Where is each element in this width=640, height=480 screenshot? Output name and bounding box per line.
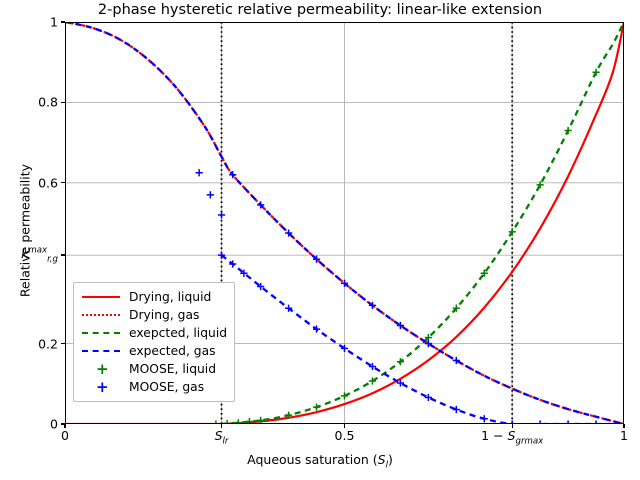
data-marker-layer xyxy=(196,22,624,424)
x-tick-mark xyxy=(221,424,222,428)
chart-title: 2-phase hysteretic relative permeability… xyxy=(0,2,640,18)
legend-label: MOOSE, liquid xyxy=(129,362,216,376)
legend-item[interactable]: expected, gas xyxy=(80,342,228,360)
legend-item[interactable]: exepcted, liquid xyxy=(80,324,228,342)
x-tick-mark xyxy=(512,424,513,428)
y-tick-mark xyxy=(61,254,65,255)
line-sample-icon xyxy=(82,314,120,316)
legend-label: expected, gas xyxy=(129,344,216,358)
legend-item[interactable]: +MOOSE, gas xyxy=(80,378,228,396)
figure: 2-phase hysteretic relative permeability… xyxy=(0,0,640,480)
x-tick-label: 0 xyxy=(61,428,69,443)
legend-swatch xyxy=(80,326,122,340)
x-tick-mark xyxy=(623,424,624,428)
x-tick-label: 1 xyxy=(620,428,628,443)
y-tick-label: 0.8 xyxy=(38,95,58,110)
legend: Drying, liquidDrying, gasexepcted, liqui… xyxy=(73,282,235,402)
legend-swatch: + xyxy=(80,362,122,376)
legend-swatch xyxy=(80,290,122,304)
x-tick-label: Slr xyxy=(215,428,229,447)
y-tick-mark xyxy=(61,343,65,344)
legend-swatch xyxy=(80,308,122,322)
y-tick-label: 1 xyxy=(50,15,58,30)
x-tick-mark xyxy=(344,424,345,428)
y-tick-mark xyxy=(61,182,65,183)
legend-label: exepcted, liquid xyxy=(129,326,227,340)
plus-marker-icon: + xyxy=(96,361,109,377)
legend-label: Drying, liquid xyxy=(129,290,211,304)
legend-label: Drying, gas xyxy=(129,308,199,322)
x-tick-label: 0.5 xyxy=(335,428,355,443)
x-tick-mark xyxy=(64,424,65,428)
y-tick-label: 0 xyxy=(50,417,58,432)
legend-item[interactable]: +MOOSE, liquid xyxy=(80,360,228,378)
x-axis-label: Aqueous saturation (Sl) xyxy=(0,452,640,471)
legend-label: MOOSE, gas xyxy=(129,380,204,394)
y-tick-label: 0.6 xyxy=(38,175,58,190)
line-sample-icon xyxy=(82,332,120,334)
line-sample-icon xyxy=(82,296,120,298)
legend-swatch xyxy=(80,344,122,358)
plus-marker-icon: + xyxy=(96,379,109,395)
x-tick-label: 1 − Sgrmax xyxy=(481,428,543,447)
y-tick-label: 0.2 xyxy=(38,336,58,351)
y-axis-label: Relative permeability xyxy=(18,121,33,341)
y-tick-mark xyxy=(61,102,65,103)
legend-swatch: + xyxy=(80,380,122,394)
y-tick-mark xyxy=(61,21,65,22)
legend-item[interactable]: Drying, liquid xyxy=(80,288,228,306)
legend-item[interactable]: Drying, gas xyxy=(80,306,228,324)
line-sample-icon xyxy=(82,350,120,352)
